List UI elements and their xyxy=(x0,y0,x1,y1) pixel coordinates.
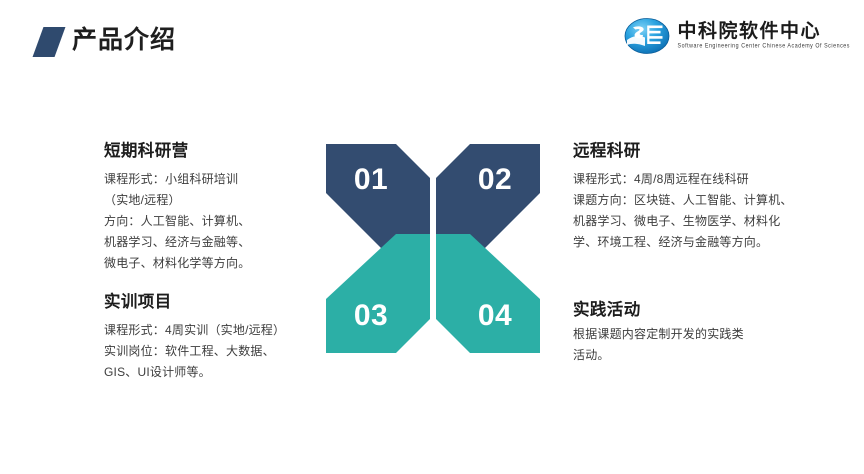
brand-logo: 中科院软件中心 Software Engineering Center Chin… xyxy=(624,16,850,56)
page-title: 产品介绍 xyxy=(72,23,176,57)
block-body: 课程形式：小组科研培训 （实地/远程） 方向：人工智能、计算机、 机器学习、经济… xyxy=(104,169,309,274)
body-line: GIS、UI设计师等。 xyxy=(104,362,309,383)
body-line: 根据课题内容定制开发的实践类 xyxy=(573,324,818,345)
block-body: 课程形式：4周实训（实地/远程） 实训岗位：软件工程、大数据、 GIS、UI设计… xyxy=(104,320,309,383)
x-shape-diagram: 01 02 03 04 xyxy=(318,131,548,366)
block-body: 课程形式：4周/8周远程在线科研 课题方向：区块链、人工智能、计算机、 机器学习… xyxy=(573,169,818,253)
body-line: 课程形式：4周实训（实地/远程） xyxy=(104,320,309,341)
info-block-short-research-camp: 短期科研营 课程形式：小组科研培训 （实地/远程） 方向：人工智能、计算机、 机… xyxy=(104,140,309,274)
body-line: 课程形式：小组科研培训 xyxy=(104,169,309,190)
segment-number-01: 01 xyxy=(354,163,388,196)
logo-text: 中科院软件中心 Software Engineering Center Chin… xyxy=(678,22,850,49)
logo-title: 中科院软件中心 xyxy=(678,22,850,41)
sec-cas-logo-icon xyxy=(624,16,670,56)
body-line: 活动。 xyxy=(573,345,818,366)
info-block-training-project: 实训项目 课程形式：4周实训（实地/远程） 实训岗位：软件工程、大数据、 GIS… xyxy=(104,291,309,383)
info-block-remote-research: 远程科研 课程形式：4周/8周远程在线科研 课题方向：区块链、人工智能、计算机、… xyxy=(573,140,818,253)
block-body: 根据课题内容定制开发的实践类 活动。 xyxy=(573,324,818,366)
body-line: 方向：人工智能、计算机、 xyxy=(104,211,309,232)
info-block-practice-activity: 实践活动 根据课题内容定制开发的实践类 活动。 xyxy=(573,299,818,366)
block-heading: 实践活动 xyxy=(573,299,818,321)
diagram-segment-03 xyxy=(326,234,430,353)
diagram-segment-04 xyxy=(436,234,540,353)
title-accent-parallelogram xyxy=(33,27,66,57)
segment-number-02: 02 xyxy=(478,163,512,196)
body-line: 课程形式：4周/8周远程在线科研 xyxy=(573,169,818,190)
logo-subtitle: Software Engineering Center Chinese Acad… xyxy=(678,44,850,50)
body-line: 学、环境工程、经济与金融等方向。 xyxy=(573,232,818,253)
body-line: 微电子、材料化学等方向。 xyxy=(104,253,309,274)
body-line: 实训岗位：软件工程、大数据、 xyxy=(104,341,309,362)
body-line: 机器学习、经济与金融等、 xyxy=(104,232,309,253)
block-heading: 远程科研 xyxy=(573,140,818,162)
segment-number-04: 04 xyxy=(478,299,512,332)
right-text-column: 远程科研 课程形式：4周/8周远程在线科研 课题方向：区块链、人工智能、计算机、… xyxy=(573,140,818,366)
slide-header: 产品介绍 xyxy=(0,0,864,78)
body-line: （实地/远程） xyxy=(104,190,309,211)
body-line: 课题方向：区块链、人工智能、计算机、 xyxy=(573,190,818,211)
body-line: 机器学习、微电子、生物医学、材料化 xyxy=(573,211,818,232)
left-text-column: 短期科研营 课程形式：小组科研培训 （实地/远程） 方向：人工智能、计算机、 机… xyxy=(104,140,309,383)
block-heading: 短期科研营 xyxy=(104,140,309,162)
block-heading: 实训项目 xyxy=(104,291,309,313)
segment-number-03: 03 xyxy=(354,299,388,332)
